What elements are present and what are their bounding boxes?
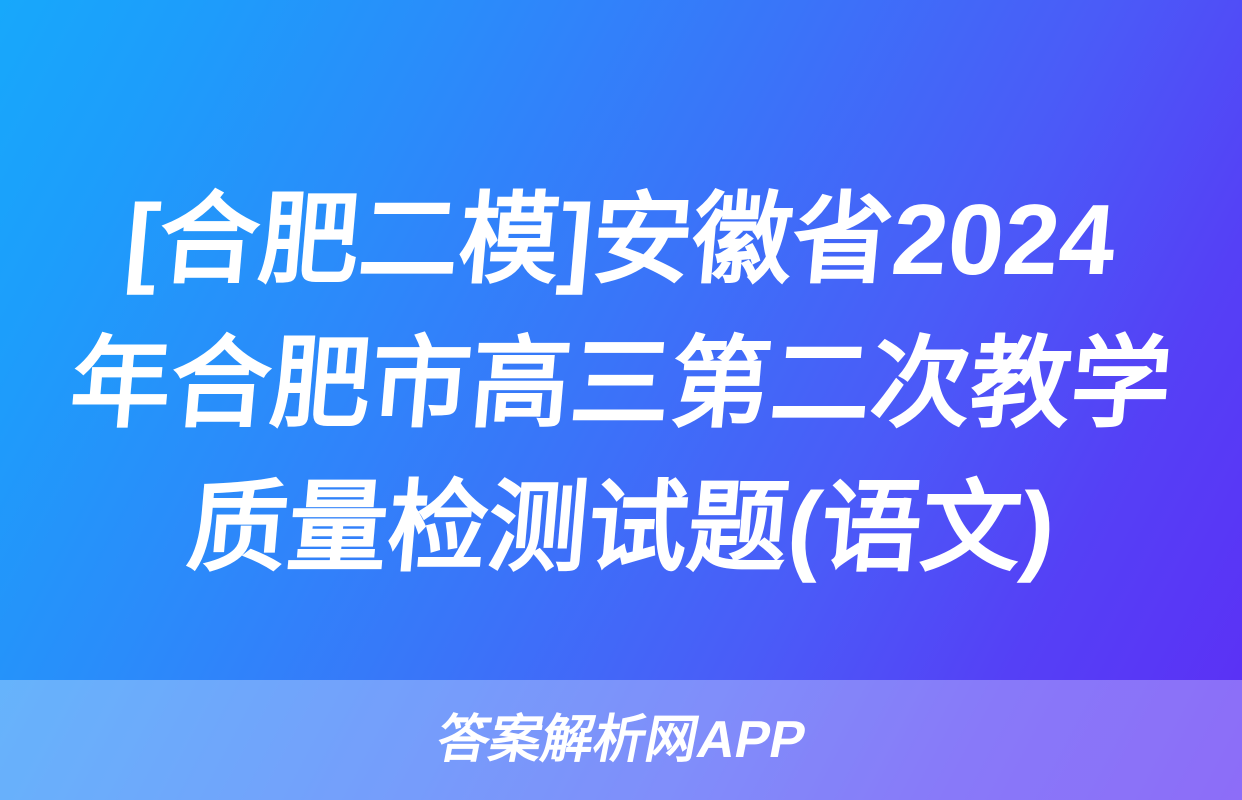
title-line-3: 质量检测试题(语文)	[181, 456, 1060, 600]
title-line-2: 年合肥市高三第二次教学	[65, 312, 1178, 456]
watermark-band: 答案解析网APP	[0, 680, 1242, 800]
poster-canvas: [合肥二模]安徽省2024 年合肥市高三第二次教学 质量检测试题(语文) 答案解…	[0, 0, 1242, 800]
poster-title: [合肥二模]安徽省2024 年合肥市高三第二次教学 质量检测试题(语文)	[0, 168, 1242, 600]
title-line-1: [合肥二模]安徽省2024	[120, 168, 1122, 312]
watermark-label: 答案解析网APP	[432, 710, 811, 770]
